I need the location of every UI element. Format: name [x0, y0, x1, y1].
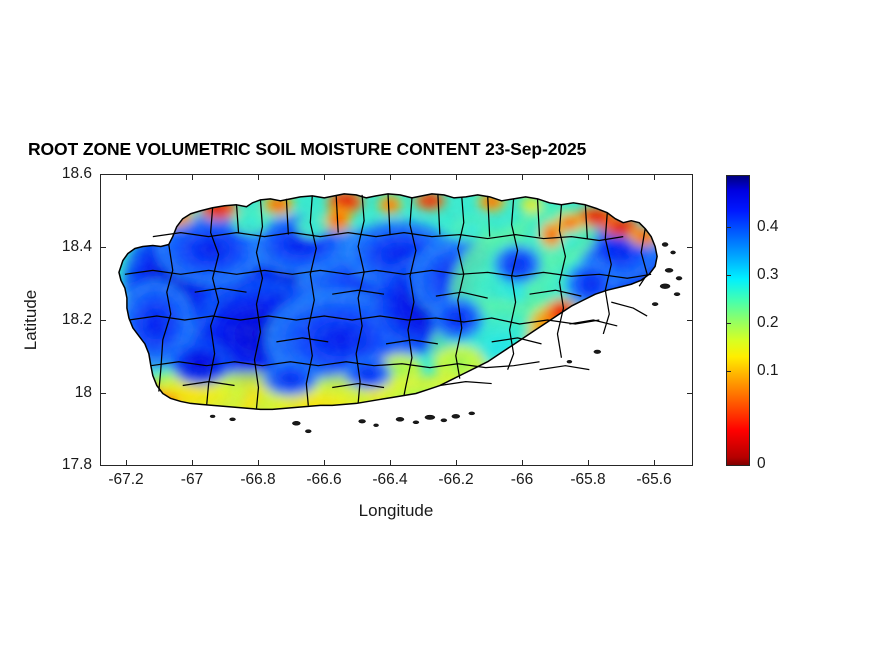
y-tick-label-1: 18.4	[62, 238, 92, 256]
x-tick-top-1	[192, 174, 193, 180]
colorbar-tick-3	[726, 371, 731, 372]
x-tick-6	[522, 460, 523, 466]
x-tick-top-8	[654, 174, 655, 180]
y-tick-right-0	[687, 174, 693, 175]
x-tick-label-8: -65.6	[636, 471, 671, 489]
colorbar-tick-2	[726, 323, 731, 324]
x-tick-label-5: -66.2	[438, 471, 473, 489]
y-tick-label-2: 18.2	[62, 311, 92, 329]
y-tick-right-2	[687, 320, 693, 321]
y-axis-title: Latitude	[21, 290, 41, 351]
x-tick-7	[588, 460, 589, 466]
colorbar-label-4: 0	[757, 455, 766, 473]
y-tick-3	[100, 393, 106, 394]
y-tick-right-4	[687, 465, 693, 466]
x-tick-5	[456, 460, 457, 466]
x-tick-top-4	[390, 174, 391, 180]
colorbar-tick-1	[726, 275, 731, 276]
colorbar-label-0: 0.4	[757, 218, 779, 236]
x-tick-label-4: -66.4	[372, 471, 407, 489]
x-tick-top-0	[126, 174, 127, 180]
page-title: ROOT ZONE VOLUMETRIC SOIL MOISTURE CONTE…	[28, 139, 586, 160]
colorbar	[726, 175, 750, 466]
x-tick-top-6	[522, 174, 523, 180]
y-tick-0	[100, 174, 106, 175]
colorbar-label-3: 0.1	[757, 362, 779, 380]
x-tick-2	[258, 460, 259, 466]
y-tick-right-3	[687, 393, 693, 394]
x-tick-0	[126, 460, 127, 466]
x-tick-label-0: -67.2	[108, 471, 143, 489]
x-tick-top-3	[324, 174, 325, 180]
x-tick-top-2	[258, 174, 259, 180]
x-tick-3	[324, 460, 325, 466]
y-tick-label-4: 17.8	[62, 456, 92, 474]
colorbar-label-2: 0.2	[757, 314, 779, 332]
moisture-raster	[101, 175, 692, 465]
x-tick-label-1: -67	[181, 471, 203, 489]
x-tick-label-6: -66	[511, 471, 533, 489]
x-tick-4	[390, 460, 391, 466]
x-tick-top-5	[456, 174, 457, 180]
x-tick-top-7	[588, 174, 589, 180]
x-tick-label-7: -65.8	[570, 471, 605, 489]
y-tick-4	[100, 465, 106, 466]
colorbar-tick-0	[726, 227, 731, 228]
soil-moisture-map	[101, 175, 692, 465]
figure-canvas: ROOT ZONE VOLUMETRIC SOIL MOISTURE CONTE…	[0, 0, 875, 656]
x-tick-8	[654, 460, 655, 466]
x-tick-label-3: -66.6	[306, 471, 341, 489]
y-tick-2	[100, 320, 106, 321]
y-tick-1	[100, 247, 106, 248]
x-tick-label-2: -66.8	[240, 471, 275, 489]
map-axes	[100, 174, 693, 466]
x-tick-1	[192, 460, 193, 466]
y-tick-label-0: 18.6	[62, 165, 92, 183]
colorbar-label-1: 0.3	[757, 266, 779, 284]
x-axis-title: Longitude	[359, 501, 434, 521]
y-tick-label-3: 18	[75, 384, 92, 402]
map-svg	[101, 175, 692, 465]
y-tick-right-1	[687, 247, 693, 248]
